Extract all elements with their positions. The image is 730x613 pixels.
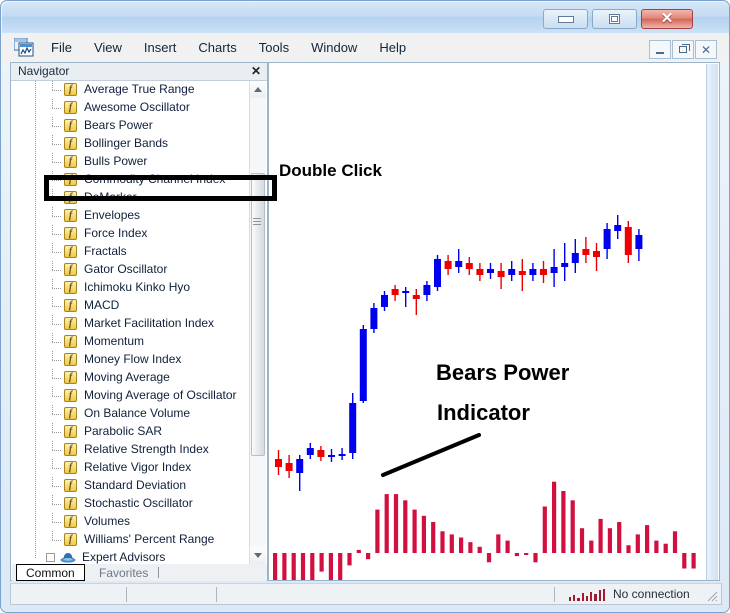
mdi-restore-button[interactable] [672,40,694,59]
tree-rail [35,495,36,513]
navigator-item-expert-advisors[interactable]: Expert Advisors [12,549,267,564]
title-bar: ✕ [2,2,730,33]
navigator-item-label: Money Flow Index [84,352,181,366]
menu-insert[interactable]: Insert [133,37,188,58]
f-indicator-icon: f [64,227,77,240]
navigator-tree[interactable]: fAverage True RangefAwesome OscillatorfB… [12,81,267,564]
navigator-item-label: On Balance Volume [84,406,190,420]
tree-elbow [52,144,62,145]
signal-bar [594,594,596,601]
window-maximize-button[interactable] [592,9,637,29]
navigator-item-commodity-channel-index[interactable]: fCommodity Channel Index [12,171,267,189]
navigator-item-awesome-oscillator[interactable]: fAwesome Oscillator [12,99,267,117]
navigator-item-label: Envelopes [84,208,140,222]
tree-elbow [52,324,62,325]
menu-window[interactable]: Window [300,37,368,58]
tree-rail [35,513,36,531]
f-indicator-icon: f [64,443,77,456]
f-indicator-icon: f [64,155,77,168]
navigator-item-market-facilitation-index[interactable]: fMarket Facilitation Index [12,315,267,333]
f-indicator-icon: f [64,515,77,528]
tree-rail [35,81,36,99]
scrollbar-thumb[interactable] [251,173,265,456]
f-indicator-icon: f [64,83,77,96]
status-separator-1 [126,587,127,602]
navigator-panel: Navigator ✕ fAverage True RangefAwesome … [10,62,268,581]
navigator-item-label: Bears Power [84,118,153,132]
navigator-item-williams-percent-range[interactable]: fWilliams' Percent Range [12,531,267,549]
chevron-up-icon [254,87,262,92]
navigator-item-bears-power[interactable]: fBears Power [12,117,267,135]
tree-elbow [52,90,62,91]
signal-bars-icon [569,589,605,601]
signal-bar [573,595,575,601]
navigator-item-relative-strength-index[interactable]: fRelative Strength Index [12,441,267,459]
application-logo-icon [14,38,34,57]
tree-rail [35,315,36,333]
tree-elbow [52,486,62,487]
navigator-item-label: Moving Average of Oscillator [84,388,237,402]
mdi-minimize-icon [656,52,664,54]
navigator-item-momentum[interactable]: fMomentum [12,333,267,351]
tree-rail [35,189,36,207]
f-indicator-icon: f [64,533,77,546]
tree-elbow [52,270,62,271]
f-indicator-icon: f [64,317,77,330]
status-bar: No connection [10,583,722,605]
navigator-item-label: Expert Advisors [82,550,165,564]
navigator-item-label: Standard Deviation [84,478,186,492]
tree-elbow [52,162,62,163]
menu-help[interactable]: Help [368,37,417,58]
tree-elbow [52,342,62,343]
chevron-down-icon [254,553,262,558]
tree-elbow [52,198,62,199]
annotation-bears-power-line2: Indicator [437,400,530,426]
minimize-icon [558,16,574,23]
f-indicator-icon: f [64,371,77,384]
tree-elbow [52,450,62,451]
tree-rail [35,117,36,135]
tree-rail [35,135,36,153]
tree-elbow [52,378,62,379]
navigator-item-parabolic-sar[interactable]: fParabolic SAR [12,423,267,441]
navigator-item-label: Parabolic SAR [84,424,162,438]
tree-elbow [52,504,62,505]
navigator-item-moving-average[interactable]: fMoving Average [12,369,267,387]
tree-elbow [52,414,62,415]
signal-bar [569,597,571,601]
signal-bar [586,596,588,601]
tree-elbow [52,360,62,361]
tree-elbow [52,108,62,109]
navigator-item-label: DeMarker [84,190,137,204]
tree-rail [35,441,36,459]
navigator-header: Navigator ✕ [11,63,267,81]
signal-bar [577,598,579,601]
expand-box-icon[interactable] [46,553,55,562]
f-indicator-icon: f [64,173,77,186]
signal-bar [590,592,592,601]
navigator-item-label: Momentum [84,334,144,348]
chart-scroll-rail[interactable] [706,64,718,580]
navigator-item-label: Stochastic Oscillator [84,496,193,510]
navigator-item-force-index[interactable]: fForce Index [12,225,267,243]
navigator-item-label: Force Index [84,226,147,240]
navigator-item-macd[interactable]: fMACD [12,297,267,315]
f-indicator-icon: f [64,119,77,132]
f-indicator-icon: f [64,335,77,348]
navigator-item-label: Market Facilitation Index [84,316,214,330]
tree-rail [35,351,36,369]
tree-rail [35,333,36,351]
mdi-close-icon: ✕ [701,43,711,57]
tree-rail [35,459,36,477]
chart-window[interactable]: Double Click Bears Power Indicator [268,62,720,581]
signal-bar [603,589,605,601]
tree-rail [35,207,36,225]
navigator-item-ichimoku-kinko-hyo[interactable]: fIchimoku Kinko Hyo [12,279,267,297]
f-indicator-icon: f [64,353,77,366]
navigator-item-label: Ichimoku Kinko Hyo [84,280,190,294]
navigator-item-label: Fractals [84,244,127,258]
tree-rail [35,405,36,423]
f-indicator-icon: f [64,281,77,294]
navigator-close-icon[interactable]: ✕ [251,64,261,78]
tab-separator [158,567,159,578]
resize-grip-icon[interactable] [705,589,718,602]
tab-favorites[interactable]: Favorites [90,564,157,581]
tree-rail [35,387,36,405]
tree-elbow [52,522,62,523]
tree-rail [35,99,36,117]
navigator-item-label: Relative Vigor Index [84,460,191,474]
menu-charts[interactable]: Charts [187,37,247,58]
tree-elbow [52,126,62,127]
navigator-item-label: Moving Average [84,370,170,384]
status-separator-3 [554,587,555,602]
navigator-item-envelopes[interactable]: fEnvelopes [12,207,267,225]
signal-bar [599,590,601,601]
tree-rail [35,261,36,279]
navigator-item-average-true-range[interactable]: fAverage True Range [12,81,267,99]
menu-bar: File View Insert Charts Tools Window Hel… [2,33,730,61]
mdi-minimize-button[interactable] [649,40,671,59]
status-separator-2 [216,587,217,602]
scrollbar-grip-icon [253,218,261,225]
tree-elbow [52,216,62,217]
f-indicator-icon: f [64,191,77,204]
f-indicator-icon: f [64,137,77,150]
tree-rail [35,423,36,441]
window-close-button[interactable]: ✕ [641,9,693,29]
tree-elbow [52,540,62,541]
f-indicator-icon: f [64,209,77,222]
mdi-close-button[interactable]: ✕ [695,40,717,59]
navigator-item-stochastic-oscillator[interactable]: fStochastic Oscillator [12,495,267,513]
navigator-item-demarker[interactable]: fDeMarker [12,189,267,207]
price-chart [269,63,720,581]
f-indicator-icon: f [64,245,77,258]
tree-rail [35,243,36,261]
navigator-item-volumes[interactable]: fVolumes [12,513,267,531]
tree-rail [35,171,36,189]
tab-common[interactable]: Common [16,564,85,581]
navigator-item-fractals[interactable]: fFractals [12,243,267,261]
tree-rail [35,369,36,387]
navigator-item-label: Volumes [84,514,130,528]
menu-tools[interactable]: Tools [248,37,300,58]
f-indicator-icon: f [64,101,77,114]
annotation-bears-power-line1: Bears Power [436,360,569,386]
navigator-scrollbar[interactable] [249,81,266,564]
tree-elbow [52,306,62,307]
navigator-item-label: Relative Strength Index [84,442,209,456]
tree-elbow [52,432,62,433]
navigator-title: Navigator [18,64,69,78]
window-minimize-button[interactable] [543,9,588,29]
tree-rail [35,477,36,495]
tree-elbow [52,234,62,235]
f-indicator-icon: f [64,479,77,492]
mdi-restore-icon [679,46,687,53]
tree-elbow [52,252,62,253]
navigator-item-label: Gator Oscillator [84,262,167,276]
scroll-down-button[interactable] [250,547,266,564]
f-indicator-icon: f [64,299,77,312]
tree-rail [35,225,36,243]
navigator-item-money-flow-index[interactable]: fMoney Flow Index [12,351,267,369]
connection-status-text: No connection [613,587,690,601]
tree-elbow [52,468,62,469]
navigator-item-label: Bollinger Bands [84,136,168,150]
navigator-tabs: Common Favorites [12,564,267,581]
navigator-item-relative-vigor-index[interactable]: fRelative Vigor Index [12,459,267,477]
f-indicator-icon: f [64,407,77,420]
navigator-item-label: Williams' Percent Range [84,532,214,546]
navigator-item-on-balance-volume[interactable]: fOn Balance Volume [12,405,267,423]
tree-rail [35,153,36,171]
navigator-item-label: Commodity Channel Index [84,172,225,186]
menu-view[interactable]: View [83,37,133,58]
navigator-item-bulls-power[interactable]: fBulls Power [12,153,267,171]
navigator-item-bollinger-bands[interactable]: fBollinger Bands [12,135,267,153]
maximize-icon [609,14,620,24]
application-window: ✕ File View Insert Charts Tools Window H… [0,0,730,613]
expert-advisor-hat-icon [60,552,76,563]
scroll-up-button[interactable] [250,81,266,98]
f-indicator-icon: f [64,497,77,510]
tree-rail [35,297,36,315]
navigator-item-standard-deviation[interactable]: fStandard Deviation [12,477,267,495]
f-indicator-icon: f [64,263,77,276]
signal-bar [582,593,584,601]
close-icon: ✕ [661,12,674,26]
f-indicator-icon: f [64,425,77,438]
tree-elbow [52,396,62,397]
tree-rail [35,531,36,549]
tree-rail [35,279,36,297]
tree-elbow [52,180,62,181]
navigator-item-gator-oscillator[interactable]: fGator Oscillator [12,261,267,279]
menu-file[interactable]: File [40,37,83,58]
navigator-item-label: MACD [84,298,119,312]
navigator-item-label: Bulls Power [84,154,147,168]
annotation-double-click: Double Click [279,161,382,181]
navigator-item-label: Awesome Oscillator [84,100,190,114]
f-indicator-icon: f [64,461,77,474]
navigator-item-moving-average-of-oscillator[interactable]: fMoving Average of Oscillator [12,387,267,405]
navigator-item-label: Average True Range [84,82,195,96]
f-indicator-icon: f [64,389,77,402]
menu-items: File View Insert Charts Tools Window Hel… [40,33,417,61]
tree-rail [35,549,36,558]
tree-elbow [52,288,62,289]
